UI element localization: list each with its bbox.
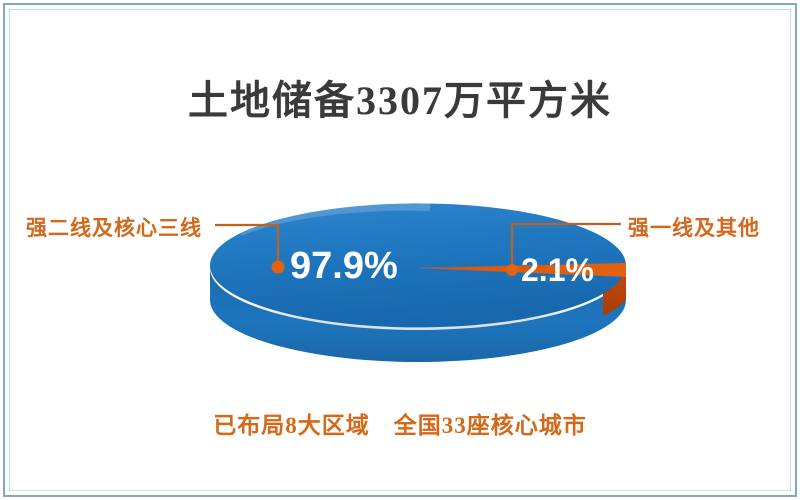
infographic-slide: 土地储备3307万平方米 [0,0,800,500]
category-label-left: 强二线及核心三线 [26,212,202,242]
callout-dot-right [506,264,518,276]
callout-dot-left [272,261,285,274]
value-label-right: 2.1% [521,252,594,289]
footer-caption: 已布局8大区域 全国33座核心城市 [0,406,800,440]
value-label-left: 97.9% [290,245,398,288]
category-label-right: 强一线及其他 [628,212,760,242]
